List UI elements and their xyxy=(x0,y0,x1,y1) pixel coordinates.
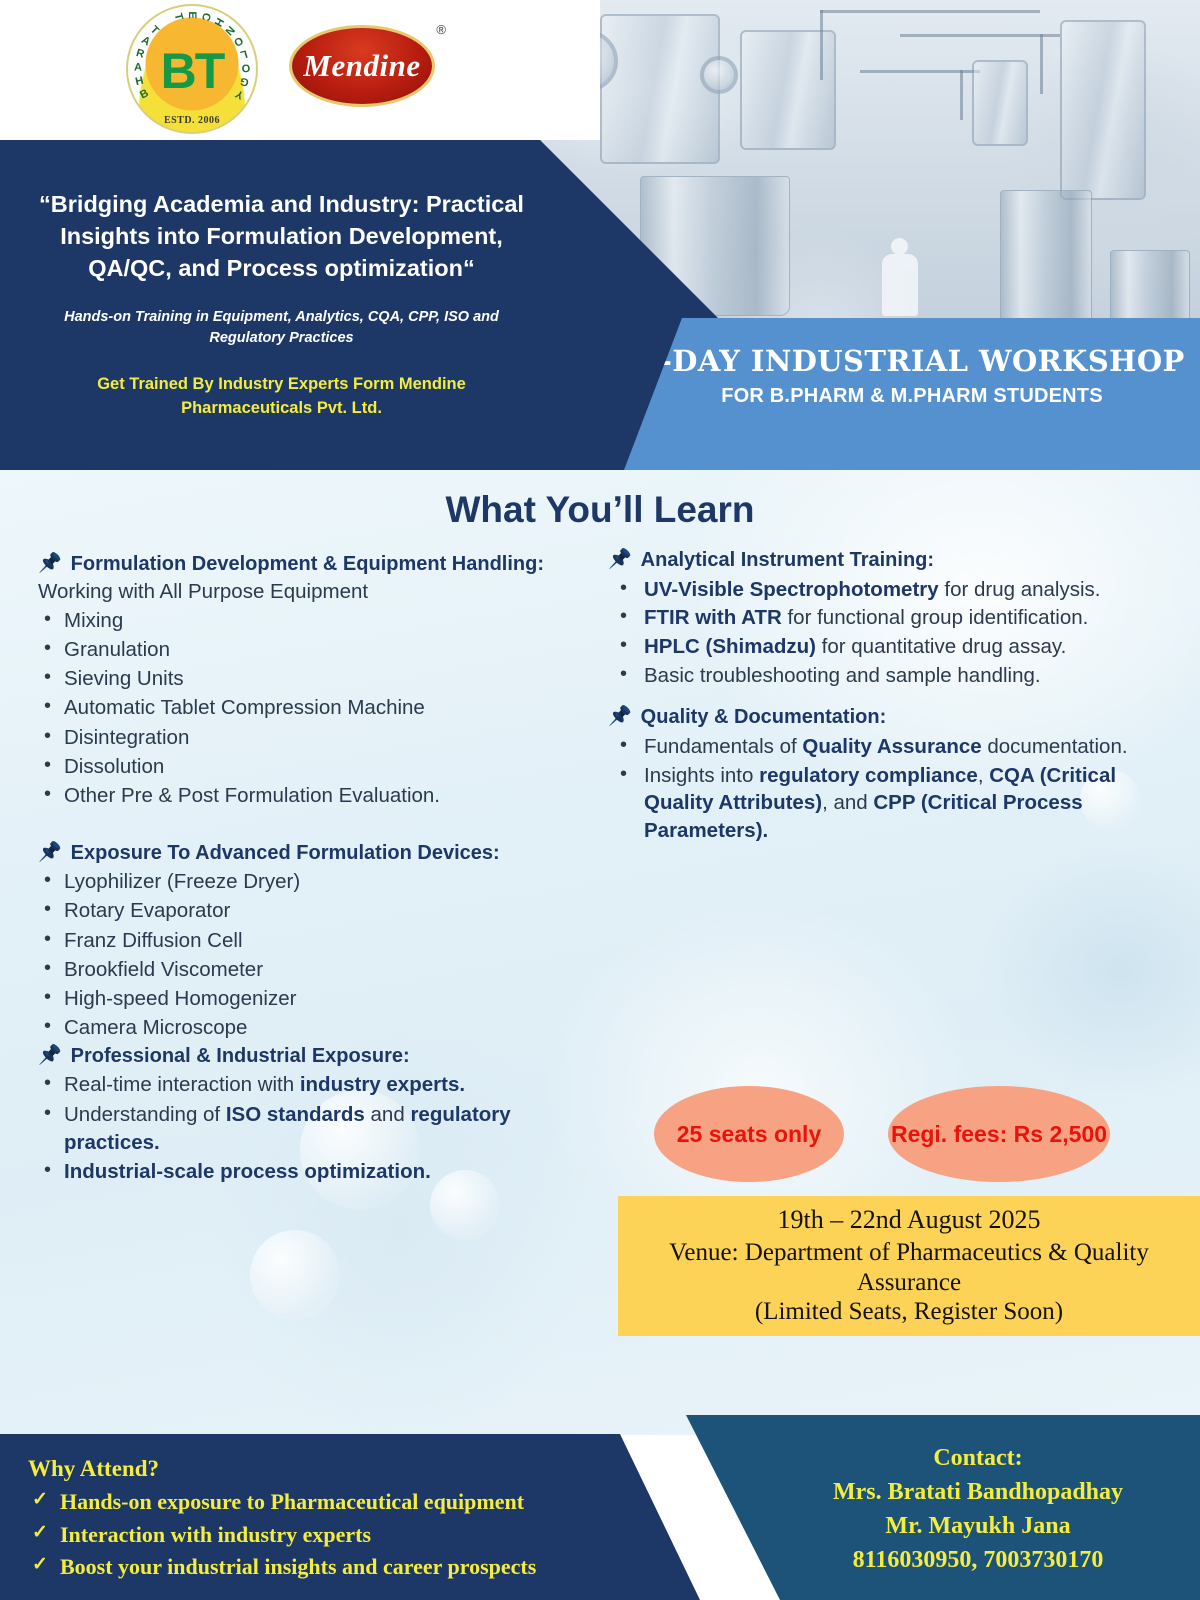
mendine-wordmark: Mendine xyxy=(303,48,420,84)
list-item: Other Pre & Post Formulation Evaluation. xyxy=(38,782,598,810)
workshop-quote-title: “Bridging Academia and Industry: Practic… xyxy=(34,188,529,285)
trained-by-highlight: Get Trained By Industry Experts Form Men… xyxy=(34,373,529,421)
section-title: Analytical Instrument Training: xyxy=(641,548,934,574)
pushpin-icon: 📌 xyxy=(608,548,632,572)
list-item: Brookfield Viscometer xyxy=(38,956,598,984)
section-title: Quality & Documentation: xyxy=(641,705,887,731)
list-item: Mixing xyxy=(38,607,598,635)
section-title: Professional & Industrial Exposure: xyxy=(71,1044,410,1070)
list-item: Franz Diffusion Cell xyxy=(38,927,598,955)
event-dates: 19th – 22nd August 2025 xyxy=(778,1205,1041,1236)
section-formulation-development: 📌 Formulation Development & Equipment Ha… xyxy=(38,552,598,578)
workshop-quote-subtitle: Hands-on Training in Equipment, Analytic… xyxy=(34,307,529,349)
list-item: Industrial-scale process optimization. xyxy=(38,1158,598,1186)
list-item: Insights into regulatory compliance, CQA… xyxy=(608,762,1168,846)
pushpin-icon: 📌 xyxy=(38,841,62,865)
why-attend-list: ✓Hands-on exposure to Pharmaceutical equ… xyxy=(28,1486,536,1584)
bharat-technology-logo: BHARAT TECHNOLOGY BT ESTD. 2006 xyxy=(126,4,258,134)
why-attend-panel: Why Attend? ✓Hands-on exposure to Pharma… xyxy=(0,1434,700,1600)
seats-badge: 25 seats only xyxy=(654,1086,844,1182)
fees-badge: Regi. fees: Rs 2,500 xyxy=(888,1086,1110,1182)
why-attend-item: ✓Hands-on exposure to Pharmaceutical equ… xyxy=(28,1486,536,1519)
bt-monogram: BT xyxy=(128,42,256,100)
list-item: HPLC (Shimadzu) for quantitative drug as… xyxy=(608,633,1168,661)
bt-established: ESTD. 2006 xyxy=(128,115,256,126)
workshop-banner: 4-DAY INDUSTRIAL WORKSHOP FOR B.PHARM & … xyxy=(624,318,1200,470)
page-title: What You’ll Learn xyxy=(0,489,1200,531)
list-item: Camera Microscope xyxy=(38,1014,598,1042)
contact-name-2: Mr. Mayukh Jana xyxy=(780,1509,1176,1543)
why-attend-item-label: Hands-on exposure to Pharmaceutical equi… xyxy=(60,1489,524,1514)
pushpin-icon: 📌 xyxy=(38,1044,62,1068)
list-item: Sieving Units xyxy=(38,665,598,693)
formulation-equipment-list: MixingGranulationSieving UnitsAutomatic … xyxy=(38,607,598,810)
check-icon: ✓ xyxy=(32,1551,48,1579)
list-item: High-speed Homogenizer xyxy=(38,985,598,1013)
event-venue-line2: Assurance xyxy=(857,1268,961,1298)
section-title: Formulation Development & Equipment Hand… xyxy=(71,552,544,578)
list-item: Granulation xyxy=(38,636,598,664)
contact-panel: Contact: Mrs. Bratati Bandhopadhay Mr. M… xyxy=(612,1415,1200,1600)
workshop-banner-title: 4-DAY INDUSTRIAL WORKSHOP xyxy=(639,344,1184,378)
left-column: 📌 Formulation Development & Equipment Ha… xyxy=(38,552,598,1187)
event-details-box: 19th – 22nd August 2025 Venue: Departmen… xyxy=(618,1196,1200,1336)
registered-trademark-icon: ® xyxy=(436,22,446,37)
list-item: Rotary Evaporator xyxy=(38,897,598,925)
mendine-logo: Mendine ® xyxy=(292,28,432,104)
why-attend-title: Why Attend? xyxy=(28,1456,159,1482)
operator-silhouette xyxy=(878,238,922,316)
advanced-devices-list: Lyophilizer (Freeze Dryer)Rotary Evapora… xyxy=(38,868,598,1041)
workshop-banner-subtitle: FOR B.PHARM & M.PHARM STUDENTS xyxy=(721,385,1103,408)
why-attend-item-label: Boost your industrial insights and caree… xyxy=(60,1554,536,1579)
list-item: Understanding of ISO standards and regul… xyxy=(38,1101,598,1157)
analytical-training-list: UV-Visible Spectrophotometry for drug an… xyxy=(608,576,1168,691)
list-item: Lyophilizer (Freeze Dryer) xyxy=(38,868,598,896)
list-item: UV-Visible Spectrophotometry for drug an… xyxy=(608,576,1168,604)
check-icon: ✓ xyxy=(32,1486,48,1514)
list-item: Real-time interaction with industry expe… xyxy=(38,1071,598,1099)
event-registration-note: (Limited Seats, Register Soon) xyxy=(755,1297,1063,1327)
section-advanced-devices: 📌 Exposure To Advanced Formulation Devic… xyxy=(38,841,598,867)
logo-strip: BHARAT TECHNOLOGY BT ESTD. 2006 Mendine … xyxy=(0,0,600,140)
section-professional-exposure: 📌 Professional & Industrial Exposure: xyxy=(38,1044,598,1070)
list-item: Dissolution xyxy=(38,753,598,781)
list-item: Disintegration xyxy=(38,724,598,752)
section-analytical-training: 📌 Analytical Instrument Training: xyxy=(608,548,1168,574)
contact-phone-numbers[interactable]: 8116030950, 7003730170 xyxy=(780,1543,1176,1577)
check-icon: ✓ xyxy=(32,1519,48,1547)
list-item: Basic troubleshooting and sample handlin… xyxy=(608,662,1168,690)
why-attend-item: ✓Interaction with industry experts xyxy=(28,1519,536,1552)
right-column: 📌 Analytical Instrument Training: UV-Vis… xyxy=(608,548,1168,846)
list-item: Automatic Tablet Compression Machine xyxy=(38,694,598,722)
section-lead-text: Working with All Purpose Equipment xyxy=(38,579,598,606)
why-attend-item: ✓Boost your industrial insights and care… xyxy=(28,1551,536,1584)
event-venue-line1: Venue: Department of Pharmaceutics & Qua… xyxy=(669,1238,1149,1268)
professional-exposure-list: Real-time interaction with industry expe… xyxy=(38,1071,598,1185)
quality-documentation-list: Fundamentals of Quality Assurance docume… xyxy=(608,733,1168,846)
contact-label: Contact: xyxy=(780,1441,1176,1475)
why-attend-item-label: Interaction with industry experts xyxy=(60,1522,371,1547)
list-item: Fundamentals of Quality Assurance docume… xyxy=(608,733,1168,761)
contact-name-1: Mrs. Bratati Bandhopadhay xyxy=(780,1475,1176,1509)
section-quality-documentation: 📌 Quality & Documentation: xyxy=(608,705,1168,731)
list-item: FTIR with ATR for functional group ident… xyxy=(608,604,1168,632)
pushpin-icon: 📌 xyxy=(608,705,632,729)
section-title: Exposure To Advanced Formulation Devices… xyxy=(71,841,500,867)
pushpin-icon: 📌 xyxy=(38,552,62,576)
